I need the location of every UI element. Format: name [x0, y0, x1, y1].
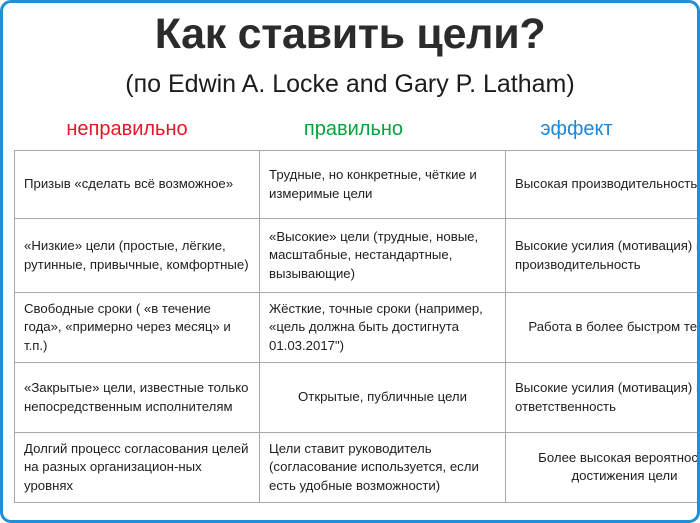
page-title: Как ставить цели? [14, 3, 686, 58]
cell-right: Жёсткие, точные сроки (например, «цель д… [260, 293, 506, 363]
table-row: «Закрытые» цели, известные только непоср… [15, 363, 700, 433]
cell-wrong: «Закрытые» цели, известные только непоср… [15, 363, 260, 433]
cell-effect: Высокие усилия (мотивация) и ответственн… [506, 363, 700, 433]
cell-wrong: Призыв «сделать всё возможное» [15, 151, 260, 219]
table-row: Призыв «сделать всё возможное» Трудные, … [15, 151, 700, 219]
poster-content: Как ставить цели? (по Edwin A. Locke and… [3, 3, 697, 520]
poster-frame: Как ставить цели? (по Edwin A. Locke and… [0, 0, 700, 523]
cell-effect: Работа в более быстром темпе [506, 293, 700, 363]
cell-wrong: «Низкие» цели (простые, лёгкие, рутинные… [15, 219, 260, 293]
table-row: Свободные сроки ( «в течение года», «при… [15, 293, 700, 363]
column-headers: неправильно правильно эффект [14, 98, 686, 141]
column-header-wrong: неправильно [14, 117, 240, 141]
cell-effect: Высокие усилия (мотивация) и производите… [506, 219, 700, 293]
table-row: Долгий процесс согласования целей на раз… [15, 433, 700, 503]
column-header-effect: эффект [467, 117, 686, 141]
cell-wrong: Долгий процесс согласования целей на раз… [15, 433, 260, 503]
goals-table: Призыв «сделать всё возможное» Трудные, … [14, 150, 700, 503]
cell-effect: Высокая производительность [506, 151, 700, 219]
cell-right: Трудные, но конкретные, чёткие и измерим… [260, 151, 506, 219]
table-row: «Низкие» цели (простые, лёгкие, рутинные… [15, 219, 700, 293]
cell-effect: Более высокая вероятность достижения цел… [506, 433, 700, 503]
cell-right: Цели ставит руководитель (согласование и… [260, 433, 506, 503]
cell-right: Открытые, публичные цели [260, 363, 506, 433]
cell-right: «Высокие» цели (трудные, новые, масштабн… [260, 219, 506, 293]
column-header-right: правильно [240, 117, 467, 141]
page-subtitle: (по Edwin A. Locke and Gary P. Latham) [14, 58, 686, 99]
cell-wrong: Свободные сроки ( «в течение года», «при… [15, 293, 260, 363]
